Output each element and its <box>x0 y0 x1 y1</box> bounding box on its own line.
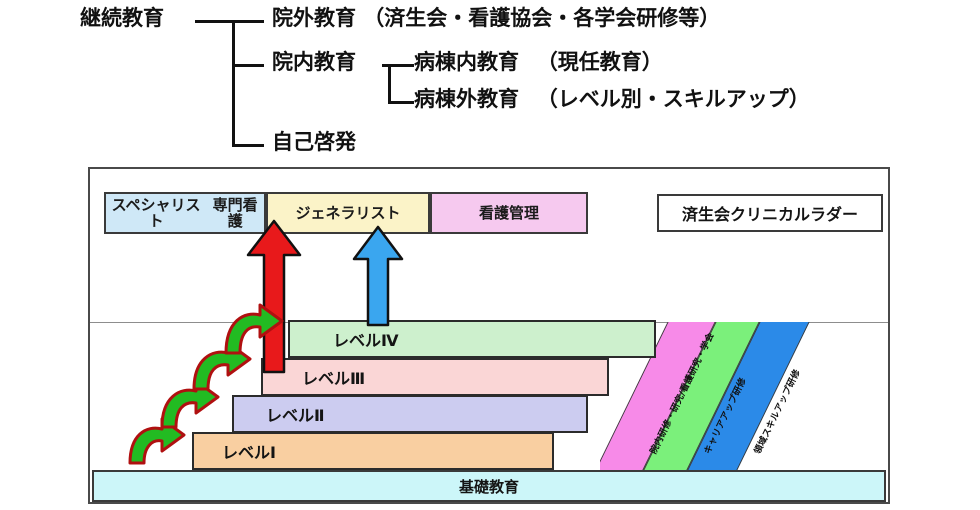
tree-branch1-connector <box>232 20 264 23</box>
tree-branch-inside-hospital: 院内教育 <box>272 52 356 73</box>
tree-sub-branch2-connector <box>388 101 414 104</box>
tree-sub-branch1-connector <box>388 64 414 67</box>
level-label-1: レベルⅠ <box>222 439 276 463</box>
tree-branch-self-development: 自己啓発 <box>272 132 356 153</box>
category-box-specialist[interactable]: スペシャリスト 専門看護 <box>104 192 266 234</box>
category-label-nursing-management: 看護管理 <box>479 205 539 221</box>
ladder-title-box: 済生会クリニカルラダー <box>657 194 883 232</box>
base-education-label: 基礎教育 <box>459 476 519 497</box>
tree-subbranch-ward-internal: 病棟内教育 （現任教育） <box>414 52 663 73</box>
level-bar-3[interactable]: レベルⅢ <box>261 358 609 396</box>
tree-sub-spine <box>388 64 391 104</box>
tree-subbranch-ward-external: 病棟外教育 （レベル別・スキルアップ） <box>414 89 810 110</box>
level-label-2: レベルⅡ <box>266 402 325 426</box>
ladder-title-text: 済生会クリニカルラダー <box>682 201 858 225</box>
level-bar-4[interactable]: レベルⅣ <box>288 320 656 358</box>
tree-branch-outside-hospital: 院外教育 （済生会・看護協会・各学会研修等） <box>272 8 720 29</box>
tree-branch3-connector <box>232 144 264 147</box>
level-bar-1[interactable]: レベルⅠ <box>192 432 554 470</box>
tree-vertical-spine <box>232 20 235 147</box>
level-label-4: レベルⅣ <box>333 327 399 351</box>
base-education-bar[interactable]: 基礎教育 <box>92 470 886 502</box>
level-label-3: レベルⅢ <box>302 365 365 389</box>
category-label-generalist: ジェネラリスト <box>295 205 400 221</box>
category-box-generalist[interactable]: ジェネラリスト <box>266 192 430 234</box>
continuing-education-tree: 継続教育 院外教育 （済生会・看護協会・各学会研修等） 院内教育 病棟内教育 （… <box>0 0 980 162</box>
level-bar-2[interactable]: レベルⅡ <box>232 395 588 433</box>
category-box-nursing-management[interactable]: 看護管理 <box>430 192 588 234</box>
category-label-specialist-line1: スペシャリスト <box>106 197 206 229</box>
tree-branch2-connector <box>232 64 264 67</box>
tree-root-label: 継続教育 <box>80 8 164 29</box>
category-label-specialist-line2: 専門看護 <box>206 197 264 229</box>
